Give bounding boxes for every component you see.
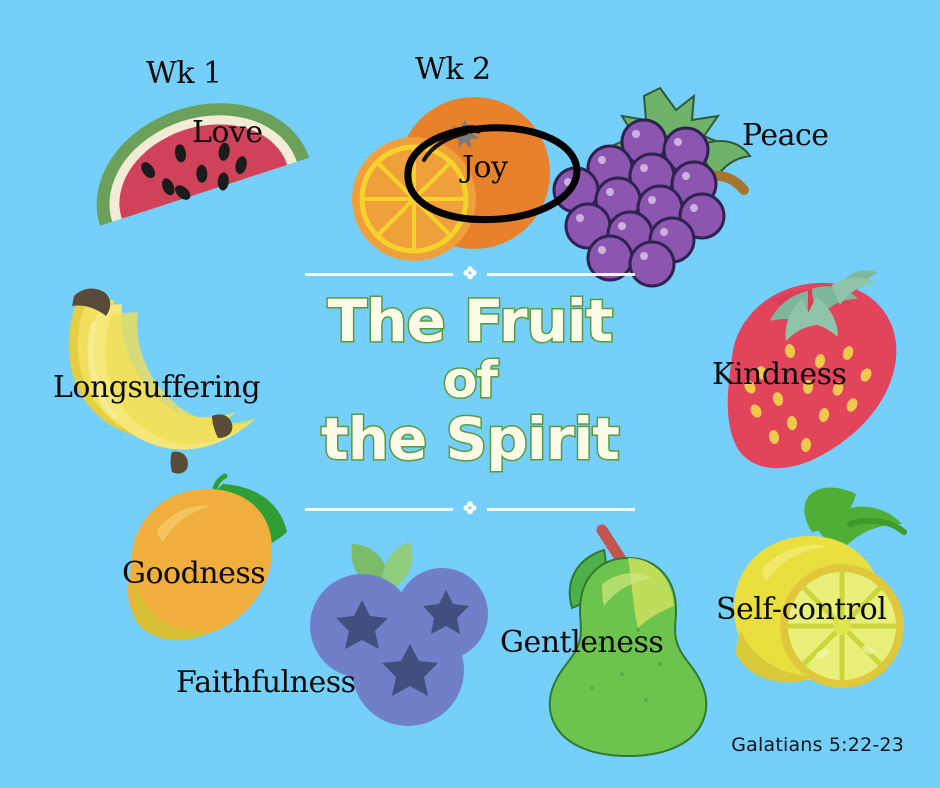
joy-highlight-circle-icon: [400, 120, 590, 225]
fruit-label-longsuffering: Longsuffering: [53, 370, 260, 405]
fruit-label-goodness: Goodness: [122, 556, 265, 591]
fruit-label-gentleness: Gentleness: [500, 625, 663, 660]
fruit-label-faithfulness: Faithfulness: [176, 665, 356, 700]
fruit-label-kindness: Kindness: [712, 357, 846, 392]
divider-rule-left: [305, 508, 453, 511]
week-marker-wk2: Wk 2: [415, 52, 491, 87]
fruit-label-self-control: Self-control: [716, 592, 886, 627]
week-marker-wk1: Wk 1: [146, 56, 222, 91]
fleuron-ornament-icon: [459, 265, 481, 283]
scripture-citation: Galatians 5:22-23: [731, 734, 904, 756]
divider-rule-right: [487, 273, 635, 276]
divider-bottom: [305, 500, 635, 518]
fruit-label-love: Love: [192, 115, 263, 150]
divider-rule-left: [305, 273, 453, 276]
fruit-of-the-spirit-poster: The Fruit of the Spirit Wk 1 Wk 2 Love J…: [0, 0, 940, 788]
title-line-1: The Fruit: [0, 290, 940, 352]
divider-rule-right: [487, 508, 635, 511]
title-line-3: the Spirit: [0, 408, 940, 470]
fruit-label-peace: Peace: [742, 118, 829, 153]
divider-top: [305, 265, 635, 283]
fleuron-ornament-icon: [459, 500, 481, 518]
